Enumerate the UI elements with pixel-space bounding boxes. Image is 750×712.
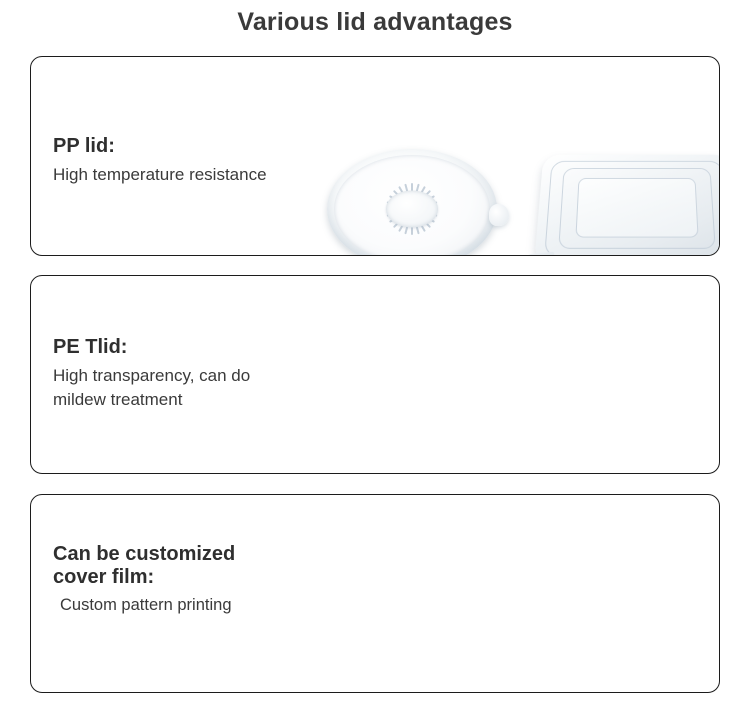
lid-rib [393, 190, 431, 228]
lid-rim [334, 155, 490, 256]
pp-lid-text-block: PP lid: High temperature resistance [53, 135, 267, 187]
lid-rib [398, 186, 426, 232]
lid-rib [404, 184, 419, 235]
lid-rib [387, 201, 438, 216]
lid-corner-tab [527, 252, 555, 256]
cover-film-subtitle: Custom pattern printing [53, 594, 235, 617]
lid-rib [393, 190, 431, 228]
infographic-page: Various lid advantages PP lid: High temp… [0, 0, 750, 712]
lid-rib [398, 186, 426, 232]
lid-rib [387, 201, 438, 216]
lid-ridge-middle [558, 168, 716, 249]
lid-rib [389, 195, 435, 223]
lid-rib [387, 201, 438, 216]
pet-lid-text-block: PE Tlid: High transparency, can do milde… [53, 336, 250, 412]
pp-lid-heading: PP lid: [53, 135, 267, 158]
lid-rib [389, 195, 435, 223]
lid-rib [389, 195, 435, 223]
lid-rib [404, 184, 419, 235]
lid-rib [393, 190, 431, 228]
cover-film-heading: Can be customized cover film: [53, 543, 235, 589]
lid-rib [404, 184, 419, 235]
cover-film-text-block: Can be customized cover film: Custom pat… [53, 543, 235, 618]
card-cover-film: Can be customized cover film: Custom pat… [30, 494, 720, 693]
card-pp-lid: PP lid: High temperature resistance [30, 56, 720, 256]
lid-ridge-inner [575, 178, 698, 238]
lid-rib [398, 186, 426, 232]
lid-rib [393, 190, 431, 228]
lid-center-hub [386, 191, 438, 228]
lid-rib [398, 186, 426, 232]
lid-rib [404, 184, 419, 235]
pet-lid-subtitle: High transparency, can do mildew treatme… [53, 364, 250, 412]
card-pet-lid: PE Tlid: High transparency, can do milde… [30, 275, 720, 474]
lid-rib [386, 208, 438, 210]
lid-rib [411, 183, 413, 235]
rectangular-pp-lid-image [534, 155, 720, 256]
page-title: Various lid advantages [0, 8, 750, 37]
pet-lid-heading: PE Tlid: [53, 336, 250, 359]
pp-lid-subtitle: High temperature resistance [53, 163, 267, 187]
lid-ridge-outer [544, 161, 720, 256]
lid-rib [386, 208, 438, 210]
lid-pull-tab [489, 204, 509, 226]
round-ribbed-pp-lid-image [327, 149, 497, 256]
lid-rib [411, 183, 413, 235]
lid-rib [389, 195, 435, 223]
lid-rib [387, 201, 438, 216]
